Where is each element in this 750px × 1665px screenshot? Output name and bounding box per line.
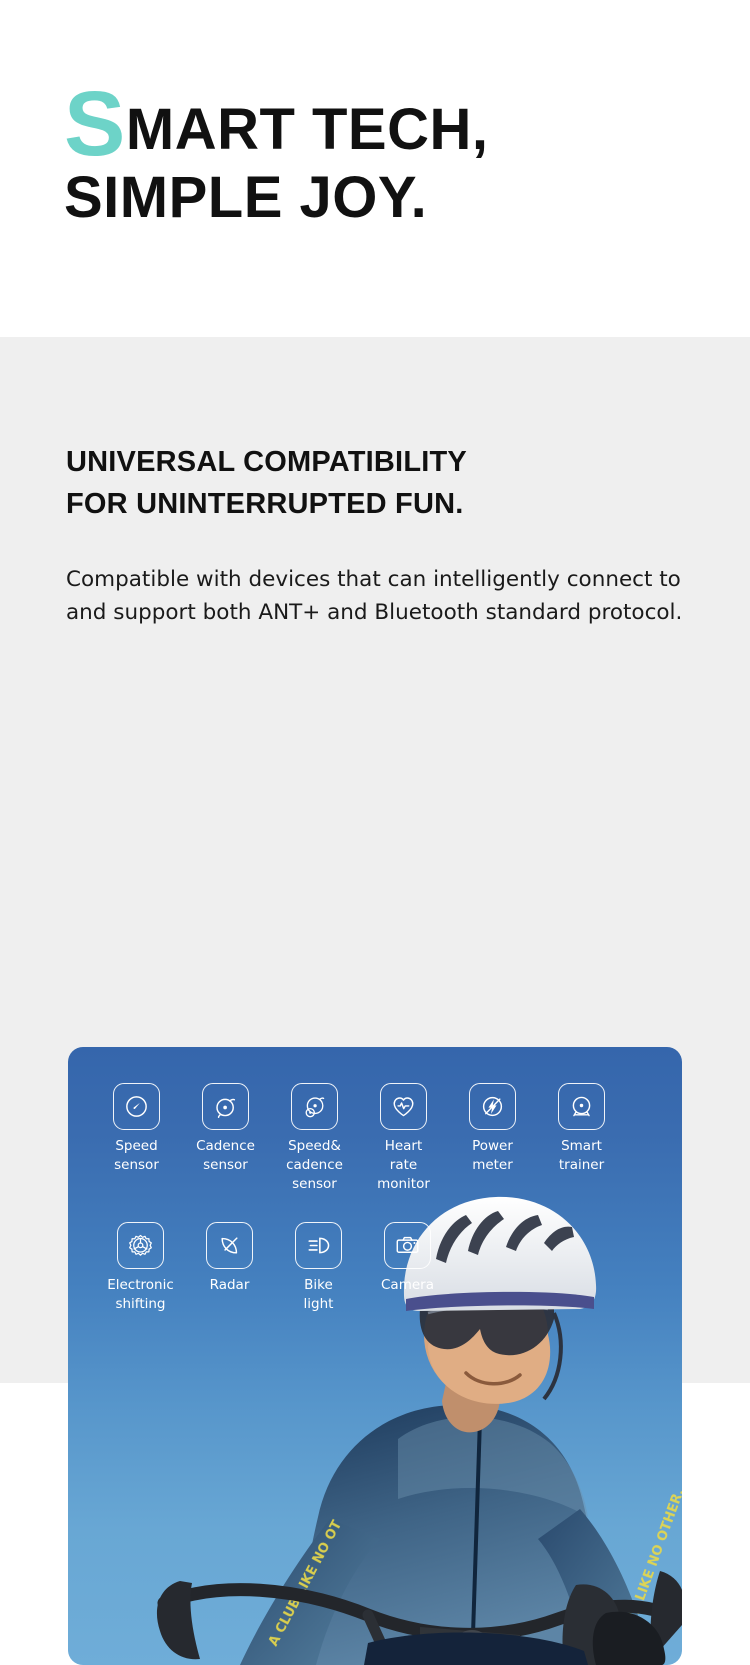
device-item-power-meter[interactable]: Power meter bbox=[448, 1083, 537, 1194]
device-icon-row-1: Speed sensor Cadence sensor bbox=[68, 1083, 682, 1194]
compatibility-card: A CLUB LIKE NO OT A CLUB LIKE NO OTHER. bbox=[68, 1047, 682, 1665]
device-label: Speed& cadence sensor bbox=[286, 1137, 343, 1194]
speed-cadence-sensor-icon bbox=[291, 1083, 338, 1130]
device-item-cadence-sensor[interactable]: Cadence sensor bbox=[181, 1083, 270, 1194]
device-label: Bike light bbox=[304, 1276, 334, 1314]
device-label: Cadence sensor bbox=[196, 1137, 255, 1175]
device-item-speed-cadence-sensor[interactable]: Speed& cadence sensor bbox=[270, 1083, 359, 1194]
hero-title-line2: SIMPLE JOY. bbox=[64, 165, 427, 230]
cadence-sensor-icon bbox=[202, 1083, 249, 1130]
device-icon-grid: Speed sensor Cadence sensor bbox=[68, 1047, 682, 1314]
device-label: Smart trainer bbox=[559, 1137, 604, 1175]
device-item-camera[interactable]: Camera bbox=[363, 1222, 452, 1314]
device-label: Power meter bbox=[472, 1137, 513, 1175]
hero-section: SMART TECH, SIMPLE JOY. bbox=[0, 0, 750, 337]
device-icon-row-2: Electronic shifting Radar bbox=[68, 1222, 682, 1314]
device-label: Electronic shifting bbox=[107, 1276, 174, 1314]
power-meter-icon bbox=[469, 1083, 516, 1130]
device-item-smart-trainer[interactable]: Smart trainer bbox=[537, 1083, 626, 1194]
bike-light-icon bbox=[295, 1222, 342, 1269]
device-label: Heart rate monitor bbox=[377, 1137, 430, 1194]
device-item-bike-light[interactable]: Bike light bbox=[274, 1222, 363, 1314]
camera-icon bbox=[384, 1222, 431, 1269]
section-heading: UNIVERSAL COMPATIBILITY FOR UNINTERRUPTE… bbox=[66, 441, 467, 525]
device-label: Speed sensor bbox=[114, 1137, 159, 1175]
section-body-text: Compatible with devices that can intelli… bbox=[66, 563, 686, 629]
device-item-speed-sensor[interactable]: Speed sensor bbox=[92, 1083, 181, 1194]
electronic-shifting-icon bbox=[117, 1222, 164, 1269]
heart-rate-monitor-icon bbox=[380, 1083, 427, 1130]
compatibility-section: UNIVERSAL COMPATIBILITY FOR UNINTERRUPTE… bbox=[0, 337, 750, 1383]
hero-title-accent-letter: S bbox=[64, 73, 126, 175]
hero-title-line1: MART TECH, bbox=[126, 97, 489, 162]
smart-trainer-icon bbox=[558, 1083, 605, 1130]
device-item-radar[interactable]: Radar bbox=[185, 1222, 274, 1314]
page-title: SMART TECH, SIMPLE JOY. bbox=[64, 96, 489, 232]
device-item-heart-rate-monitor[interactable]: Heart rate monitor bbox=[359, 1083, 448, 1194]
device-item-electronic-shifting[interactable]: Electronic shifting bbox=[96, 1222, 185, 1314]
speed-sensor-icon bbox=[113, 1083, 160, 1130]
device-label: Camera bbox=[381, 1276, 434, 1295]
radar-icon bbox=[206, 1222, 253, 1269]
device-label: Radar bbox=[210, 1276, 250, 1295]
